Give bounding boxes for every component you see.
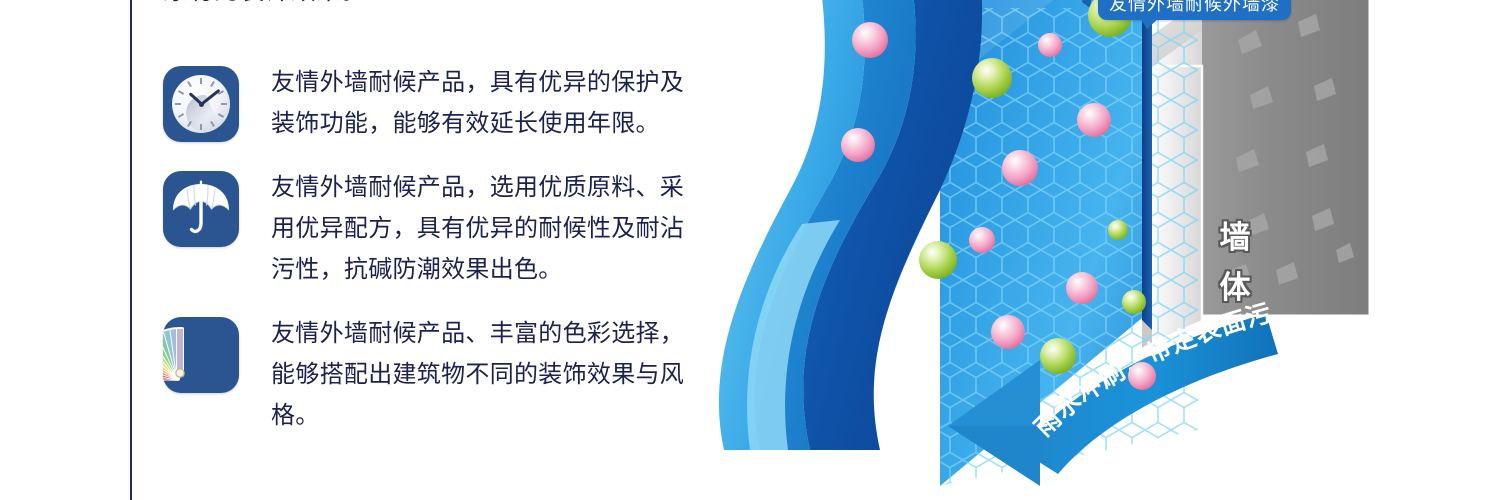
wall-body-char-1: 墙 — [1212, 213, 1258, 263]
color-fan-icon — [163, 317, 239, 393]
feature-text: 友情外墙耐候产品、丰富的色彩选择，能够搭配出建筑物不同的装饰效果与风格。 — [271, 313, 691, 436]
feature-item-weather-resistance: 友情外墙耐候产品，选用优质原料、采用优异配方，具有优异的耐候性及耐沾污性，抗碱防… — [163, 167, 693, 290]
feature-list: 友情外墙耐候产品，具有优异的保护及装饰功能，能够有效延长使用年限。 友情外墙耐候… — [163, 62, 693, 459]
feature-item-color-selection: 友情外墙耐候产品、丰富的色彩选择，能够搭配出建筑物不同的装饰效果与风格。 — [163, 313, 693, 436]
promo-page: 原有的装饰效果。 — [0, 0, 1500, 500]
feature-text: 友情外墙耐候产品，选用优质原料、采用优异配方，具有优异的耐候性及耐沾污性，抗碱防… — [271, 167, 691, 290]
umbrella-icon — [163, 171, 239, 247]
wall-body-label: 墙 体 — [1212, 213, 1258, 313]
wall-body-char-2: 体 — [1212, 263, 1258, 313]
feature-text: 友情外墙耐候产品，具有优异的保护及装饰功能，能够有效延长使用年限。 — [271, 62, 691, 144]
cut-off-heading: 原有的装饰效果。 — [163, 0, 367, 8]
clock-icon — [163, 66, 239, 142]
wall-coating-illustration: 雨水冲刷，带走表面污染物 — [690, 0, 1500, 500]
coating-callout-label: 友情外墙耐候外墙漆 — [1098, 0, 1291, 20]
feature-item-durability: 友情外墙耐候产品，具有优异的保护及装饰功能，能够有效延长使用年限。 — [163, 62, 693, 144]
page-frame-rule — [130, 0, 132, 500]
